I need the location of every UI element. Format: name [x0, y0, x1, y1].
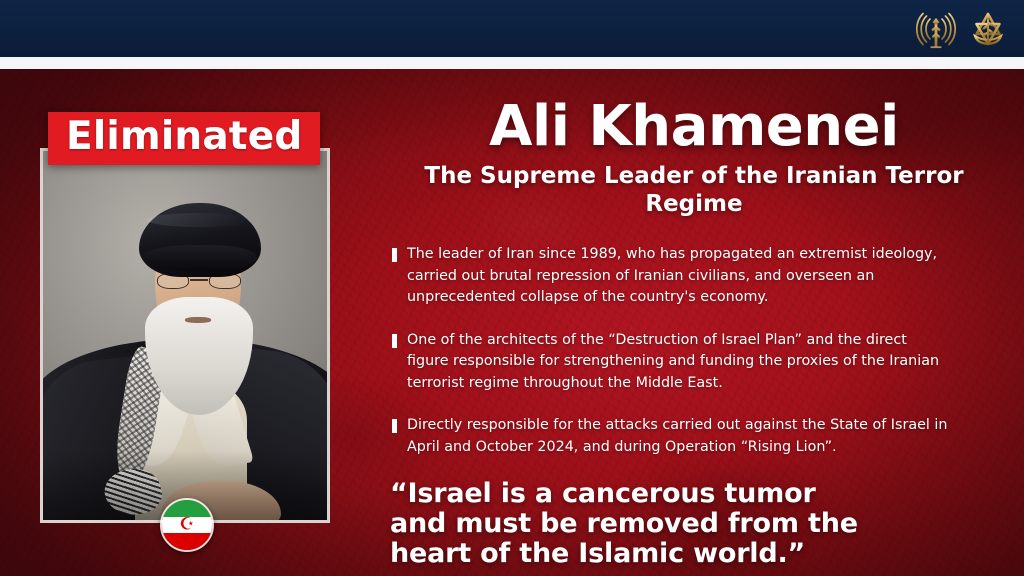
eliminated-badge: Eliminated: [48, 112, 320, 165]
list-item: Directly responsible for the attacks car…: [390, 415, 950, 458]
list-item-text: The leader of Iran since 1989, who has p…: [407, 246, 937, 305]
iran-flag-badge: ☪: [160, 498, 214, 552]
pull-quote-line: heart of the Islamic world.”: [390, 539, 998, 569]
pull-quote-line: “Israel is a cancerous tumor: [390, 479, 998, 509]
page-title: Ali Khamenei: [390, 96, 998, 158]
content-column: Ali Khamenei The Supreme Leader of the I…: [390, 96, 998, 569]
glasses-bridge: [190, 279, 208, 281]
poster-root: Eliminated ☪ Ali Khamenei The Supreme Le…: [0, 0, 1024, 576]
bullet-marker-icon: [392, 334, 397, 348]
pull-quote: “Israel is a cancerous tumor and must be…: [390, 479, 998, 569]
idf-emblem-icon: [966, 7, 1010, 51]
emblem-group: [914, 5, 1010, 53]
list-item: One of the architects of the “Destructio…: [390, 330, 950, 395]
bullet-marker-icon: [392, 419, 397, 433]
photo-inner: [43, 151, 327, 520]
page-subtitle: The Supreme Leader of the Iranian Terror…: [390, 162, 998, 218]
list-item-text: One of the architects of the “Destructio…: [407, 332, 939, 391]
turban-band: [143, 245, 257, 271]
list-item-text: Directly responsible for the attacks car…: [407, 417, 947, 455]
broadcast-antenna-icon: [914, 7, 958, 51]
pull-quote-line: and must be removed from the: [390, 509, 998, 539]
flag-stripe-red: [162, 533, 212, 550]
eliminated-badge-label: Eliminated: [66, 117, 302, 157]
mouth: [185, 317, 211, 323]
subject-photo: [40, 148, 330, 523]
list-item: The leader of Iran since 1989, who has p…: [390, 244, 950, 309]
iran-flag-emblem-icon: ☪: [179, 517, 194, 534]
turban-highlight: [147, 213, 251, 227]
bullet-marker-icon: [392, 248, 397, 262]
bullet-list: The leader of Iran since 1989, who has p…: [390, 244, 998, 458]
white-divider-strip: [0, 57, 1024, 69]
top-navy-bar: [0, 0, 1024, 57]
